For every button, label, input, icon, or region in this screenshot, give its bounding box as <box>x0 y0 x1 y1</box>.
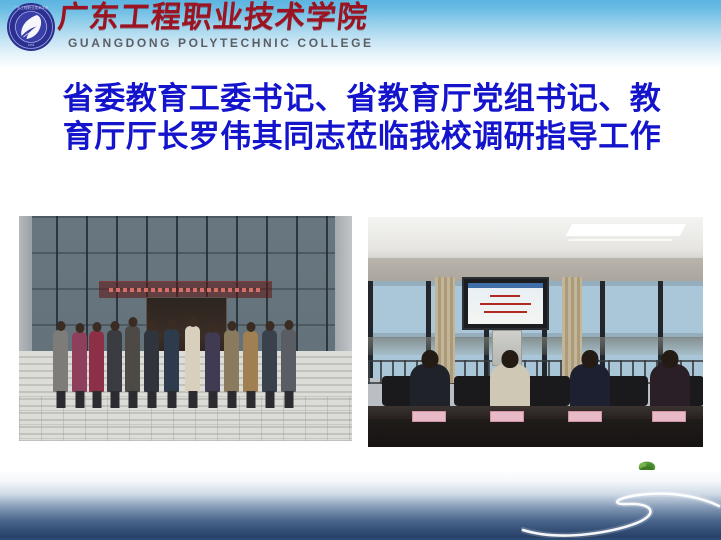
header-institution-name-en: GUANGDONG POLYTECHNIC COLLEGE <box>68 36 374 50</box>
photo-left-person <box>243 331 258 392</box>
photo-left-plaza <box>19 396 352 441</box>
slide-title: 省委教育工委书记、省教育厅党组书记、教 育厅厅长罗伟其同志莅临我校调研指导工作 <box>28 80 696 156</box>
photo-left-person <box>164 329 179 392</box>
photo-right-seated-person <box>570 364 610 406</box>
slide-title-line-2: 育厅厅长罗伟其同志莅临我校调研指导工作 <box>28 118 696 156</box>
wave-swoosh-icon <box>521 486 721 540</box>
photo-right-nameplate <box>490 411 524 422</box>
photo-right-screen-text-line <box>480 303 531 305</box>
photo-right-screen-text-line <box>484 311 527 313</box>
photo-left-person <box>224 330 239 392</box>
slide-header-band: 广东工程职业技术学院 1958 广东工程职业技术学院 GUANGDONG POL… <box>0 0 721 68</box>
photo-right-nameplate <box>652 411 686 422</box>
photo-group-on-steps <box>19 216 352 441</box>
photo-left-person <box>185 326 200 392</box>
photo-right-seated-person <box>490 364 530 406</box>
photo-right-ceiling-light <box>566 224 686 236</box>
photo-left-person <box>53 330 68 392</box>
photo-left-person <box>89 331 104 392</box>
photo-right-projection-screen <box>462 277 549 330</box>
photo-right-screen-surface <box>468 283 543 324</box>
presentation-slide: 广东工程职业技术学院 1958 广东工程职业技术学院 GUANGDONG POL… <box>0 0 721 540</box>
photo-right-chair <box>526 376 570 406</box>
photo-left-person <box>72 332 87 392</box>
slide-footer-band <box>0 470 721 540</box>
photo-right-screen-header-bar <box>468 283 543 288</box>
photo-right-nameplate <box>568 411 602 422</box>
photo-right-distant-hills <box>368 337 703 355</box>
header-institution-name-cn: 广东工程职业技术学院 <box>56 0 380 36</box>
photo-right-chair <box>604 376 648 406</box>
svg-text:广东工程职业技术学院: 广东工程职业技术学院 <box>14 5 49 10</box>
photo-left-person <box>205 332 220 392</box>
photo-left-person <box>281 329 296 392</box>
photo-left-person <box>144 330 159 392</box>
photo-left-person <box>107 330 122 392</box>
photo-right-seated-person <box>650 364 690 406</box>
photo-left-person <box>262 330 277 392</box>
photo-right-seated-person <box>410 364 450 406</box>
photo-right-nameplate <box>412 411 446 422</box>
photo-left-person <box>125 326 140 392</box>
svg-text:1958: 1958 <box>28 43 35 47</box>
photo-right-screen-text-line <box>490 295 520 297</box>
slide-title-line-1: 省委教育工委书记、省教育厅党组书记、教 <box>28 80 696 118</box>
photo-left-welcome-banner <box>99 281 272 298</box>
photo-right-conference-table <box>368 419 703 447</box>
college-crest-icon: 广东工程职业技术学院 1958 <box>6 2 56 52</box>
photo-conference-meeting <box>368 217 703 447</box>
